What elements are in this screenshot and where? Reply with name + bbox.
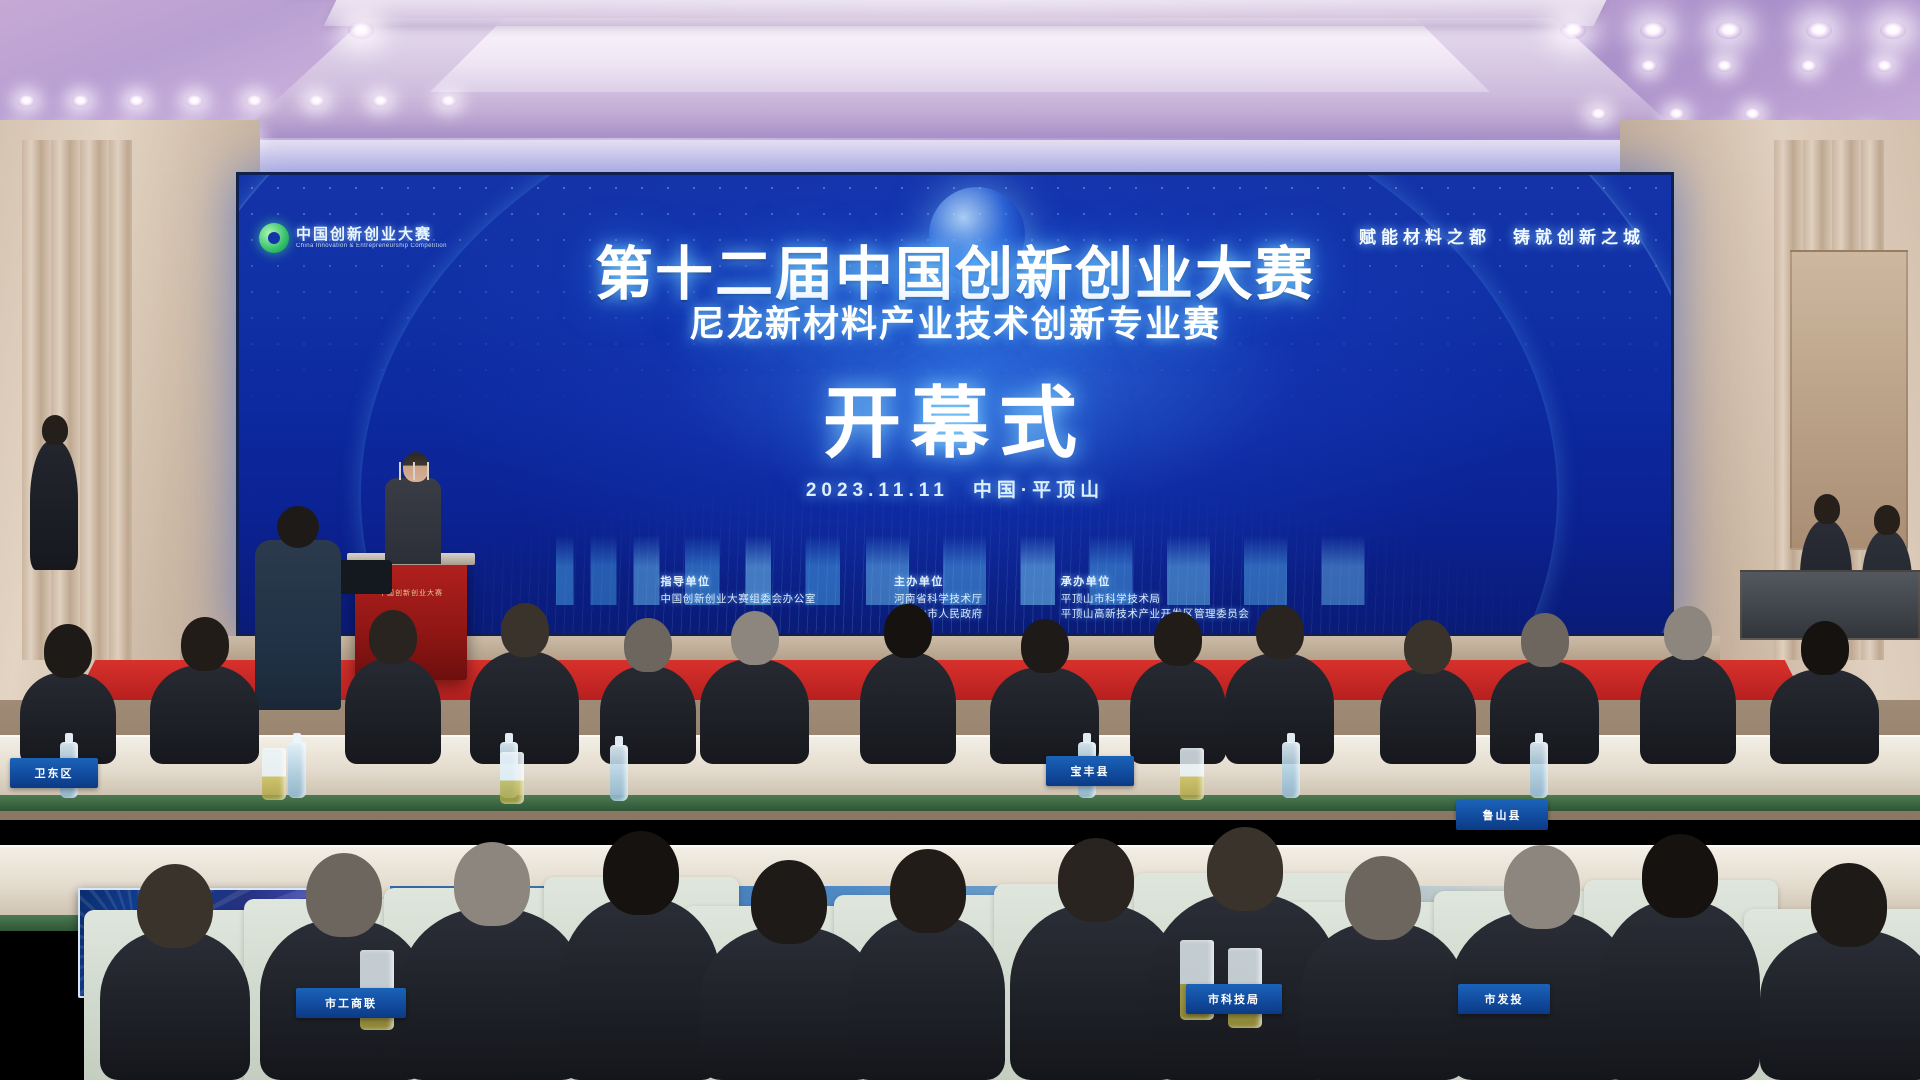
- audience-head: [731, 611, 779, 665]
- audience-member: [860, 652, 956, 764]
- ceiling-downlight: [128, 95, 145, 107]
- organizer-entity: 平顶山高新技术产业开发区管理委员会: [1061, 607, 1250, 622]
- table-nameplate: 市工商联: [296, 988, 406, 1018]
- organizer-entity: 中国创新创业大赛组委会办公室: [661, 592, 816, 607]
- speaker-at-podium: [385, 478, 441, 564]
- audience-member: [1130, 660, 1226, 764]
- audience-head: [1521, 613, 1569, 667]
- camera-operator-head: [277, 506, 319, 548]
- audience-head: [1058, 838, 1134, 922]
- water-bottle: [1282, 742, 1300, 798]
- organizer-role: 指导单位: [661, 573, 816, 589]
- microphone-icon: [399, 462, 401, 480]
- curtain-left: [22, 140, 132, 660]
- audience-member: [100, 930, 250, 1080]
- ceiling-downlight: [186, 95, 203, 107]
- audience-head: [624, 618, 672, 672]
- audience-head: [306, 853, 382, 937]
- organizer-column: 指导单位中国创新创业大赛组委会办公室: [661, 573, 816, 622]
- audience-head: [884, 604, 932, 658]
- audience-head: [454, 842, 530, 926]
- led-title-line2: 尼龙新材料产业技术创新专业赛: [239, 295, 1671, 347]
- staff-head: [1874, 505, 1900, 535]
- ceiling-downlight: [1880, 22, 1906, 39]
- camera-operator: [255, 540, 341, 710]
- organizer-entity: 平顶山市科学技术局: [1061, 592, 1250, 607]
- water-bottle: [1530, 742, 1548, 798]
- ceiling-downlight: [18, 95, 35, 107]
- ceiling-downlight: [1668, 108, 1685, 120]
- broadcast-frame: 中国创新创业大赛 China Innovation & Entrepreneur…: [0, 0, 1920, 1080]
- table-cloth-green-back: [0, 795, 1920, 811]
- table-nameplate: 市发投: [1458, 984, 1550, 1014]
- audience-member: [470, 651, 579, 764]
- tea-cup: [262, 748, 286, 800]
- audience-member: [1640, 654, 1736, 764]
- ceiling-downlight: [1716, 22, 1742, 39]
- audience-head: [44, 624, 92, 678]
- audience-head: [1801, 621, 1849, 675]
- microphone-icon: [427, 462, 429, 480]
- ceiling-downlight: [1876, 60, 1893, 72]
- audience-head: [137, 864, 213, 948]
- organizer-entities: 中国创新创业大赛组委会办公室: [661, 592, 816, 607]
- audience-member: [1600, 900, 1760, 1080]
- speaker-head: [403, 452, 429, 482]
- audience-member: [1760, 929, 1920, 1080]
- audience-head: [181, 617, 229, 671]
- tea-cup: [500, 752, 524, 804]
- audience-head: [1021, 619, 1069, 673]
- organizer-role: 主办单位: [894, 573, 983, 589]
- ceiling-inner-panel: [430, 18, 1490, 92]
- audience-head: [1207, 827, 1283, 911]
- audience-member: [1225, 653, 1334, 764]
- table-nameplate: 市科技局: [1186, 984, 1282, 1014]
- audience-member: [150, 665, 259, 764]
- audience-member: [1770, 669, 1879, 764]
- audience-member: [345, 658, 441, 764]
- tea-cup: [1180, 748, 1204, 800]
- staff-head: [1814, 494, 1840, 524]
- water-bottle: [610, 745, 628, 801]
- ceiling-downlight: [1800, 60, 1817, 72]
- ceiling-downlight: [372, 95, 389, 107]
- staff-head: [42, 415, 68, 445]
- audience-head: [1504, 845, 1580, 929]
- led-date-location: 2023.11.11 中国·平顶山: [239, 475, 1671, 502]
- audience-head: [1404, 620, 1452, 674]
- audience-member: [850, 915, 1005, 1080]
- audience-head: [1345, 856, 1421, 940]
- staff-standing-left: [30, 440, 78, 570]
- audience-head: [1154, 612, 1202, 666]
- audience-member: [560, 897, 721, 1080]
- ceiling-downlight: [440, 95, 457, 107]
- audience-head: [890, 849, 966, 933]
- audience-head: [1664, 606, 1712, 660]
- audience-head: [751, 860, 827, 944]
- water-bottle: [288, 742, 306, 798]
- audience-head: [603, 831, 679, 915]
- audience-member: [1380, 668, 1476, 764]
- ceiling-downlight: [1640, 22, 1666, 39]
- table-nameplate: 鲁山县: [1456, 800, 1548, 830]
- audience-member: [400, 908, 584, 1080]
- ceiling-downlight: [1806, 22, 1832, 39]
- audience-head: [369, 610, 417, 664]
- ceiling-downlight: [1716, 60, 1733, 72]
- audience-head: [501, 603, 549, 657]
- audience-head: [1811, 863, 1887, 947]
- organizer-column: 承办单位平顶山市科学技术局平顶山高新技术产业开发区管理委员会: [1061, 573, 1250, 622]
- ceiling-downlight: [348, 22, 374, 39]
- ceiling-downlight: [246, 95, 263, 107]
- ceiling-downlight: [1590, 108, 1607, 120]
- ceiling-downlight: [308, 95, 325, 107]
- audience-head: [1256, 605, 1304, 659]
- audience-member: [700, 659, 809, 764]
- organizer-entities: 平顶山市科学技术局平顶山高新技术产业开发区管理委员会: [1061, 592, 1250, 622]
- led-title-opening-ceremony: 开幕式: [239, 361, 1671, 473]
- table-nameplate: 卫东区: [10, 758, 98, 788]
- ceiling-downlight: [1560, 22, 1586, 39]
- table-nameplate: 宝丰县: [1046, 756, 1134, 786]
- audience-member: [1300, 922, 1466, 1080]
- ceiling-downlight: [72, 95, 89, 107]
- ceiling-beam-secondary: [324, 0, 1607, 26]
- microphone-icon: [413, 462, 415, 480]
- ceiling-downlight: [1744, 108, 1761, 120]
- ceiling-downlight: [1640, 60, 1657, 72]
- organizer-role: 承办单位: [1061, 573, 1250, 589]
- audience-head: [1642, 834, 1718, 918]
